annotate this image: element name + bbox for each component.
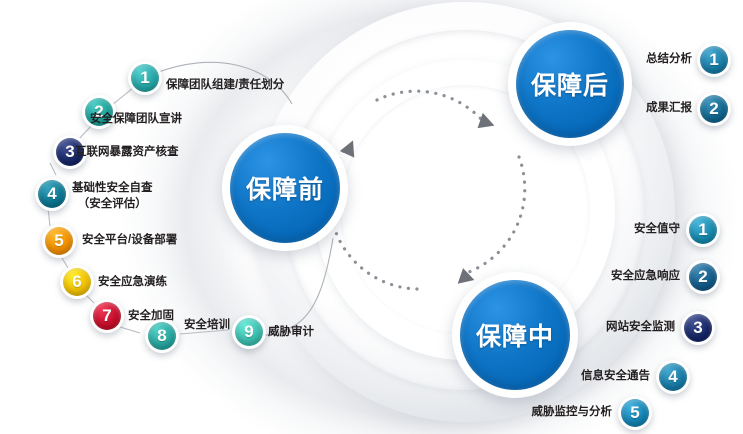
before-step-4-badge[interactable]: 4 [35, 177, 69, 211]
during-step-3-label: 网站安全监测 [600, 320, 675, 335]
cycle-arrowhead-3 [339, 139, 356, 157]
before-step-7-number: 7 [93, 302, 121, 330]
after-step-2-number: 2 [700, 95, 728, 123]
before-step-8-label: 安全培训 [184, 318, 230, 333]
before-step-9-number: 9 [235, 318, 263, 346]
cycle-arrowhead-2 [456, 267, 474, 284]
before-step-4-label: 基础性安全自查 （安全评估） [72, 180, 153, 212]
during-step-4-label: 信息安全通告 [575, 369, 650, 384]
after-step-2-label: 成果汇报 [630, 101, 692, 116]
after-step-1-number: 1 [700, 46, 728, 74]
after-step-1-label: 总结分析 [630, 52, 692, 67]
after-step-2-badge[interactable]: 2 [697, 92, 731, 126]
hub-during-label: 保障中 [476, 317, 554, 353]
hub-after-protection[interactable]: 保障后 [508, 22, 632, 146]
before-step-1-number: 1 [131, 64, 159, 92]
before-step-9-label: 威胁审计 [268, 325, 314, 340]
hub-before-protection[interactable]: 保障前 [222, 125, 348, 251]
hub-during-protection[interactable]: 保障中 [452, 272, 578, 398]
before-step-1-badge[interactable]: 1 [128, 61, 162, 95]
during-step-2-label: 安全应急响应 [605, 269, 680, 284]
before-step-8-badge[interactable]: 8 [145, 319, 179, 353]
during-step-3-badge[interactable]: 3 [681, 311, 715, 345]
after-step-1-badge[interactable]: 1 [697, 43, 731, 77]
hub-after-label: 保障后 [531, 66, 609, 102]
during-step-1-number: 1 [689, 216, 717, 244]
cycle-arrowhead-1 [478, 113, 497, 132]
before-step-5-badge[interactable]: 5 [42, 224, 76, 258]
hub-before-circle: 保障前 [230, 133, 340, 243]
before-step-9-badge[interactable]: 9 [232, 315, 266, 349]
hub-during-circle: 保障中 [460, 280, 570, 390]
before-step-6-number: 6 [63, 268, 91, 296]
during-step-5-number: 5 [621, 399, 649, 427]
cycle-arc-2 [469, 157, 525, 272]
during-step-2-number: 2 [689, 263, 717, 291]
before-step-6-label: 安全应急演练 [98, 275, 167, 290]
during-step-4-badge[interactable]: 4 [656, 360, 690, 394]
cycle-arc-1 [377, 91, 481, 119]
before-step-7-badge[interactable]: 7 [90, 299, 124, 333]
during-step-5-label: 威胁监控与分析 [524, 405, 612, 420]
before-step-5-label: 安全平台/设备部署 [82, 233, 177, 248]
during-step-1-label: 安全值守 [618, 222, 680, 237]
during-step-2-badge[interactable]: 2 [686, 260, 720, 294]
during-step-1-badge[interactable]: 1 [686, 213, 720, 247]
before-step-3-label: 互联网暴露资产核查 [75, 145, 179, 160]
before-step-6-badge[interactable]: 6 [60, 265, 94, 299]
before-step-8-number: 8 [148, 322, 176, 350]
hub-before-label: 保障前 [246, 170, 324, 206]
before-step-5-number: 5 [45, 227, 73, 255]
before-step-4-number: 4 [38, 180, 66, 208]
diagram-canvas: 保障前 保障后 保障中 1 保障团队组建/责任划分 2 安全保障团队宣讲 3 互… [0, 0, 743, 434]
during-step-5-badge[interactable]: 5 [618, 396, 652, 430]
before-step-2-label: 安全保障团队宣讲 [90, 112, 182, 127]
before-step-1-label: 保障团队组建/责任划分 [166, 78, 284, 93]
before-step-4-label-line1: 基础性安全自查 [72, 180, 153, 196]
during-step-3-number: 3 [684, 314, 712, 342]
before-step-4-label-line2: （安全评估） [72, 196, 153, 212]
during-step-4-number: 4 [659, 363, 687, 391]
hub-after-circle: 保障后 [516, 30, 624, 138]
